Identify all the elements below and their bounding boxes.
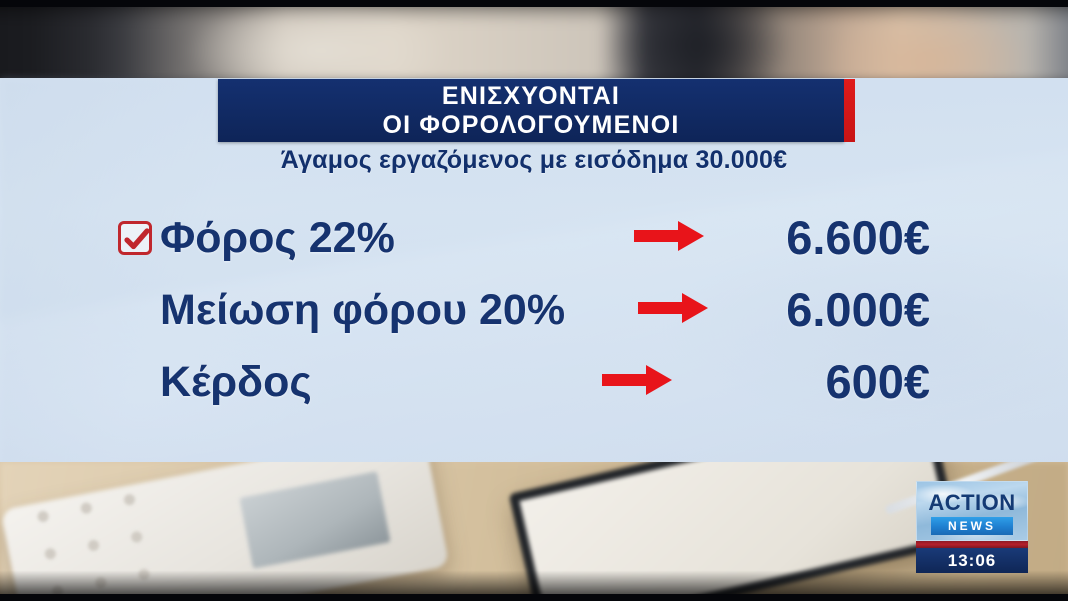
arrow-right-icon xyxy=(634,219,706,258)
row-value: 6.600€ xyxy=(720,213,930,263)
logo-red-divider xyxy=(916,541,1028,548)
arrow-right-icon xyxy=(602,363,674,402)
bottom-vignette xyxy=(0,462,1068,601)
row-value: 600€ xyxy=(720,357,930,407)
row-value-group: 600€ xyxy=(602,357,930,407)
headline-line-2: ΟΙ ΦΟΡΟΛΟΓΟΥΜΕΝΟΙ xyxy=(383,111,680,140)
arrow-right-icon xyxy=(638,291,710,330)
headline-banner: ΕΝΙΣΧΥΟΝΤΑΙ ΟΙ ΦΟΡΟΛΟΓΟΥΜΕΝΟΙ xyxy=(218,79,844,142)
row-label: Κέρδος xyxy=(160,359,312,405)
logo-news-bar: NEWS xyxy=(931,517,1013,535)
logo-action-text: ACTION xyxy=(917,491,1027,515)
clock-time: 13:06 xyxy=(948,552,996,570)
banner-red-accent-bar xyxy=(844,79,855,142)
row-value-group: 6.000€ xyxy=(638,285,930,335)
row-label-group: Μείωση φόρου 20% xyxy=(118,287,638,333)
photo-bottom-calculator-desk xyxy=(0,462,1068,601)
action-news-logo: ACTION NEWS xyxy=(916,481,1028,541)
letterbox-top xyxy=(0,0,1068,7)
row-label-group: Φόρος 22% xyxy=(118,215,634,261)
checkbox-checked-icon xyxy=(118,221,152,255)
data-rows: Φόρος 22% 6.600€ Μείωση φόρου 20% xyxy=(118,202,930,418)
photo-top-handshake xyxy=(0,0,1068,84)
row-value-group: 6.600€ xyxy=(634,213,930,263)
data-row: Φόρος 22% 6.600€ xyxy=(118,202,930,274)
headline-line-1: ΕΝΙΣΧΥΟΝΤΑΙ xyxy=(442,82,620,111)
subtitle: Άγαμος εργαζόμενος με εισόδημα 30.000€ xyxy=(0,146,1068,175)
data-row: Κέρδος 600€ xyxy=(118,346,930,418)
row-label: Φόρος 22% xyxy=(160,215,395,261)
row-label: Μείωση φόρου 20% xyxy=(160,287,565,333)
clock: 13:06 xyxy=(916,548,1028,573)
broadcast-screen: ΕΝΙΣΧΥΟΝΤΑΙ ΟΙ ΦΟΡΟΛΟΓΟΥΜΕΝΟΙ Άγαμος εργ… xyxy=(0,0,1068,601)
letterbox-bottom xyxy=(0,594,1068,601)
channel-logo-bug: ACTION NEWS 13:06 xyxy=(916,481,1028,573)
data-row: Μείωση φόρου 20% 6.000€ xyxy=(118,274,930,346)
row-label-group: Κέρδος xyxy=(118,359,602,405)
row-value: 6.000€ xyxy=(720,285,930,335)
logo-news-text: NEWS xyxy=(948,520,996,533)
